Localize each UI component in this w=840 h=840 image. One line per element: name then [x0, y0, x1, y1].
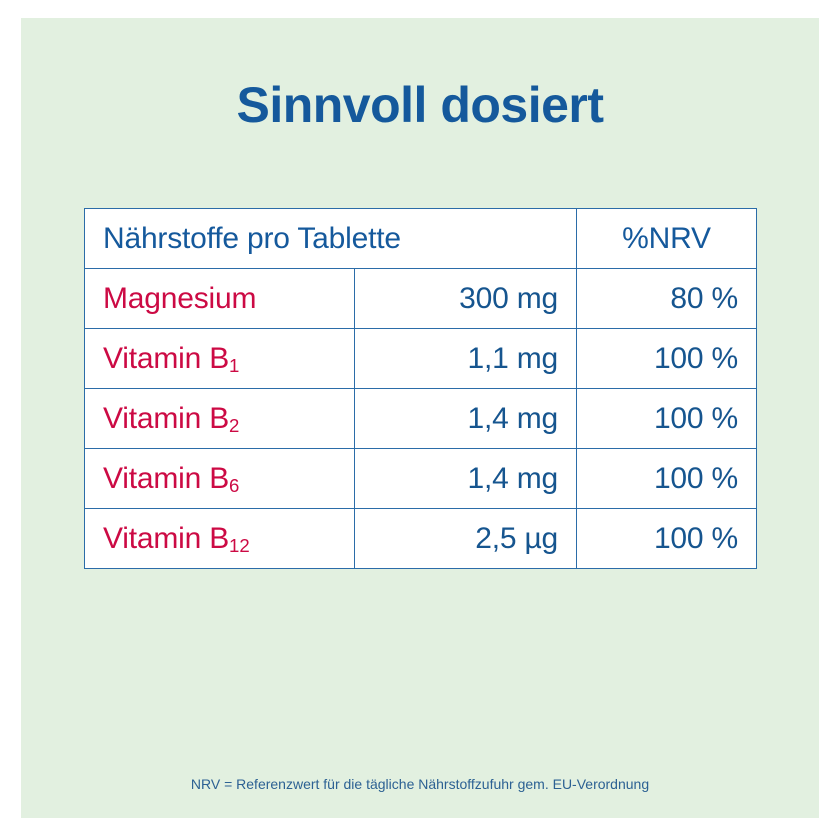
nutrient-name: Magnesium: [103, 282, 256, 315]
cell-amount: 1,4 mg: [355, 449, 577, 509]
nutrient-name: Vitamin B: [103, 342, 229, 375]
cell-amount: 1,4 mg: [355, 389, 577, 449]
cell-nutrient: Magnesium: [85, 269, 355, 329]
table-row: Vitamin B2 1,4 mg 100 %: [85, 389, 757, 449]
cell-amount: 2,5 µg: [355, 509, 577, 569]
page-title: Sinnvoll dosiert: [21, 76, 819, 134]
nutrient-subscript: 12: [229, 535, 250, 556]
table-row: Magnesium 300 mg 80 %: [85, 269, 757, 329]
nutrient-subscript: 1: [229, 355, 239, 376]
table-header-row: Nährstoffe pro Tablette %NRV: [85, 209, 757, 269]
column-header-nrv: %NRV: [577, 209, 757, 269]
cell-nutrient: Vitamin B6: [85, 449, 355, 509]
nutrient-name: Vitamin B: [103, 522, 229, 555]
table-body: Magnesium 300 mg 80 % Vitamin B1 1,1 mg …: [85, 269, 757, 569]
nutrition-table: Nährstoffe pro Tablette %NRV Magnesium 3…: [84, 208, 757, 569]
nutrient-name: Vitamin B: [103, 402, 229, 435]
nutrient-subscript: 6: [229, 475, 239, 496]
table-header: Nährstoffe pro Tablette %NRV: [85, 209, 757, 269]
cell-nrv: 100 %: [577, 389, 757, 449]
cell-nutrient: Vitamin B1: [85, 329, 355, 389]
table-footnote: NRV = Referenzwert für die tägliche Nähr…: [21, 776, 819, 792]
cell-nrv: 100 %: [577, 329, 757, 389]
table-row: Vitamin B1 1,1 mg 100 %: [85, 329, 757, 389]
cell-nrv: 80 %: [577, 269, 757, 329]
table-row: Vitamin B12 2,5 µg 100 %: [85, 509, 757, 569]
cell-nrv: 100 %: [577, 509, 757, 569]
content-panel: Sinnvoll dosiert Nährstoffe pro Tablette…: [21, 18, 819, 818]
nutrient-name: Vitamin B: [103, 462, 229, 495]
cell-nutrient: Vitamin B12: [85, 509, 355, 569]
nutrient-subscript: 2: [229, 415, 239, 436]
column-header-nutrients: Nährstoffe pro Tablette: [85, 209, 577, 269]
table-row: Vitamin B6 1,4 mg 100 %: [85, 449, 757, 509]
cell-amount: 300 mg: [355, 269, 577, 329]
cell-amount: 1,1 mg: [355, 329, 577, 389]
cell-nrv: 100 %: [577, 449, 757, 509]
cell-nutrient: Vitamin B2: [85, 389, 355, 449]
